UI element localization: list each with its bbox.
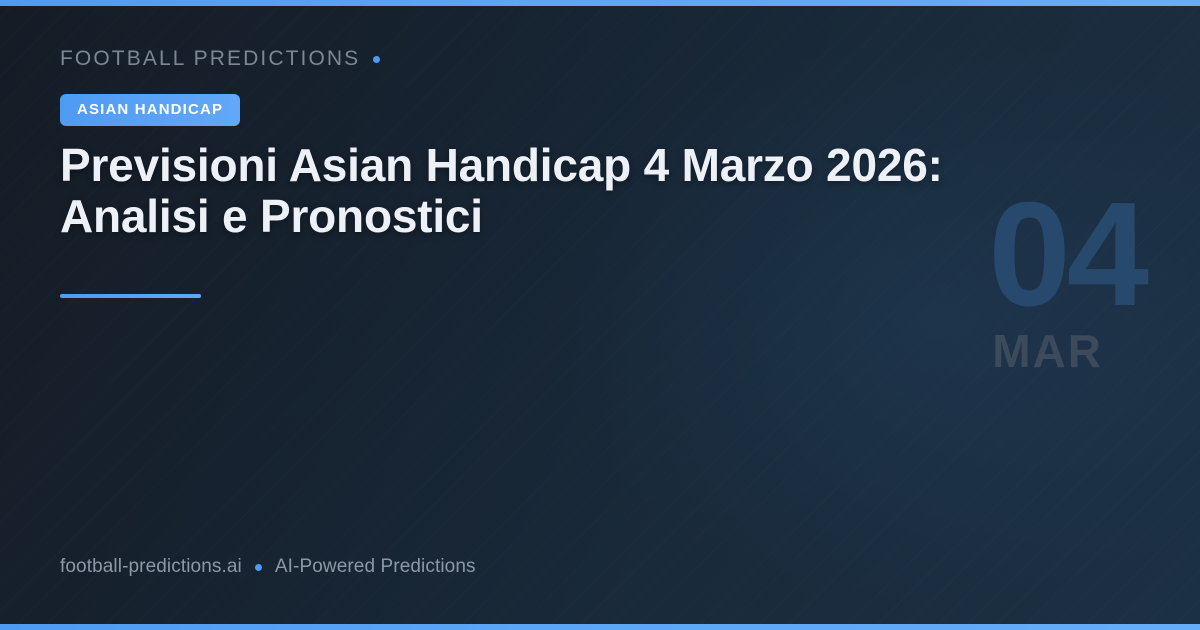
footer-tagline: AI-Powered Predictions <box>275 556 476 578</box>
eyebrow-label: FOOTBALL PREDICTIONS <box>60 47 360 71</box>
date-block: 04 MAR <box>988 196 1145 374</box>
page-title: Previsioni Asian Handicap 4 Marzo 2026: … <box>60 140 970 242</box>
eyebrow: FOOTBALL PREDICTIONS <box>60 47 380 71</box>
top-accent-bar <box>0 0 1200 6</box>
footer: football-predictions.ai AI-Powered Predi… <box>60 556 476 578</box>
blue-dot-icon <box>255 564 262 571</box>
category-badge[interactable]: ASIAN HANDICAP <box>60 94 240 126</box>
date-day: 04 <box>988 196 1145 314</box>
footer-site-label: football-predictions.ai <box>60 556 242 578</box>
accent-rule <box>60 294 201 298</box>
og-banner-card: 04 MAR FOOTBALL PREDICTIONS ASIAN HANDIC… <box>0 0 1200 630</box>
blue-dot-icon <box>373 56 380 63</box>
date-month: MAR <box>988 328 1103 374</box>
bottom-accent-bar <box>0 624 1200 630</box>
